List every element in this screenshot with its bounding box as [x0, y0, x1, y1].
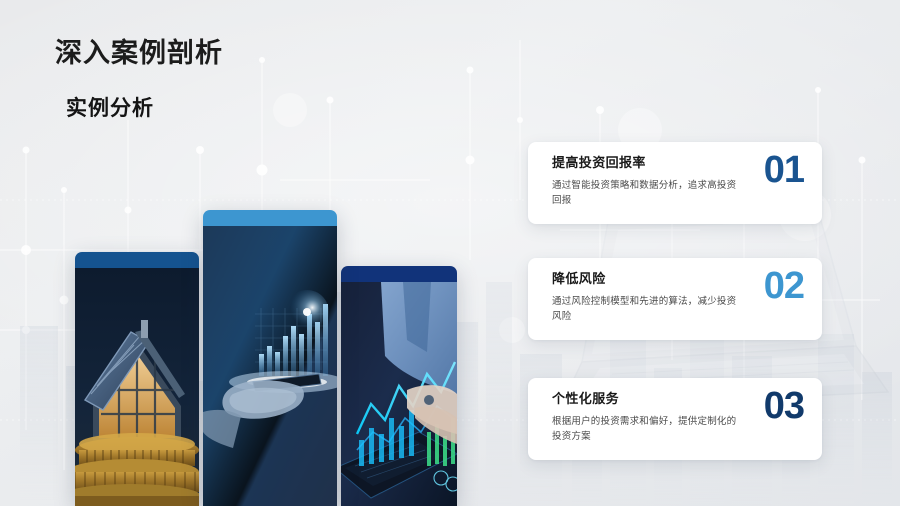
panel-top-bar-solar-house	[75, 252, 199, 268]
panel-image-solar-house	[75, 268, 199, 506]
image-panel-laptop-chart[interactable]	[341, 266, 457, 506]
feature-card-1[interactable]: 提高投资回报率 通过智能投资策略和数据分析，追求高投资回报 01	[528, 142, 822, 224]
image-panel-group	[0, 0, 480, 506]
feature-card-1-text: 提高投资回报率 通过智能投资策略和数据分析，追求高投资回报	[552, 155, 742, 209]
feature-card-2-title: 降低风险	[552, 271, 742, 287]
feature-card-1-number: 01	[764, 151, 804, 189]
slide-root: 深入案例剖析 实例分析	[0, 0, 900, 506]
feature-card-3-number: 03	[764, 387, 804, 425]
feature-card-3-description: 根据用户的投资需求和偏好，提供定制化的投资方案	[552, 414, 742, 445]
panel-image-laptop-chart	[341, 282, 457, 506]
feature-card-3-text: 个性化服务 根据用户的投资需求和偏好，提供定制化的投资方案	[552, 391, 742, 445]
panel-top-bar-hand-phone	[203, 210, 337, 226]
image-panel-hand-phone[interactable]	[203, 210, 337, 506]
feature-card-1-title: 提高投资回报率	[552, 155, 742, 171]
feature-card-list: 提高投资回报率 通过智能投资策略和数据分析，追求高投资回报 01 降低风险 通过…	[528, 0, 828, 506]
feature-card-2-text: 降低风险 通过风险控制模型和先进的算法，减少投资风险	[552, 271, 742, 325]
feature-card-3-title: 个性化服务	[552, 391, 742, 407]
image-panel-solar-house[interactable]	[75, 252, 199, 506]
feature-card-1-description: 通过智能投资策略和数据分析，追求高投资回报	[552, 178, 742, 209]
panel-image-hand-phone	[203, 226, 337, 506]
panel-top-bar-laptop-chart	[341, 266, 457, 282]
feature-card-2[interactable]: 降低风险 通过风险控制模型和先进的算法，减少投资风险 02	[528, 258, 822, 340]
feature-card-2-number: 02	[764, 267, 804, 305]
feature-card-3[interactable]: 个性化服务 根据用户的投资需求和偏好，提供定制化的投资方案 03	[528, 378, 822, 460]
feature-card-2-description: 通过风险控制模型和先进的算法，减少投资风险	[552, 294, 742, 325]
